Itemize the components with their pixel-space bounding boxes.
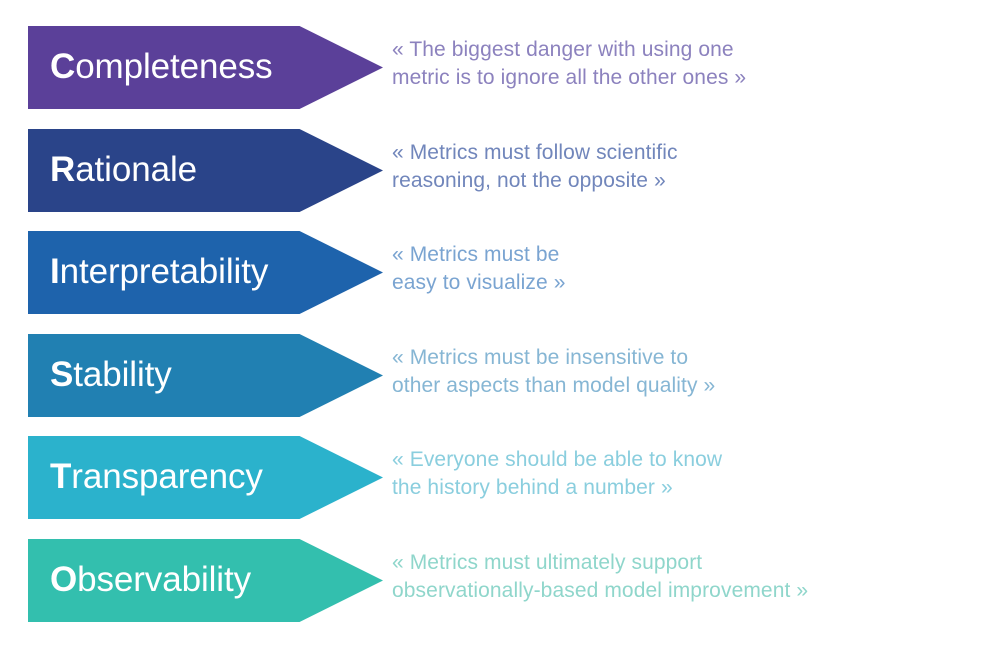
chevron-label-completeness: Completeness [28,49,273,84]
chevron-rest-completeness: ompleteness [75,47,272,86]
chevron-initial-interpretability: I [50,252,60,291]
chevron-label-transparency: Transparency [28,459,263,494]
chevron-wrap-stability: Stability [0,328,392,431]
quote-transparency: « Everyone should be able to know the hi… [392,430,996,502]
chevron-rest-observability: bservability [77,560,251,599]
chevron-initial-transparency: T [50,457,71,496]
chevron-banner-observability[interactable]: Observability [28,539,383,622]
quote-observability: « Metrics must ultimately support observ… [392,533,996,605]
quote-stability: « Metrics must be insensitive to other a… [392,328,996,400]
metric-qualities-board: Completeness « The biggest danger with u… [0,0,996,660]
row-completeness: Completeness « The biggest danger with u… [0,20,996,123]
row-interpretability: Interpretability « Metrics must be easy … [0,225,996,328]
chevron-wrap-transparency: Transparency [0,430,392,533]
chevron-initial-observability: O [50,560,77,599]
chevron-rest-stability: tability [73,355,171,394]
chevron-wrap-completeness: Completeness [0,20,392,123]
chevron-rest-transparency: ransparency [71,457,263,496]
quote-rationale: « Metrics must follow scientific reasoni… [392,123,996,195]
chevron-initial-stability: S [50,355,73,394]
chevron-banner-completeness[interactable]: Completeness [28,26,383,109]
quote-completeness: « The biggest danger with using one metr… [392,20,996,92]
chevron-wrap-observability: Observability [0,533,392,636]
chevron-initial-rationale: R [50,150,75,189]
row-stability: Stability « Metrics must be insensitive … [0,328,996,431]
chevron-rest-interpretability: nterpretability [60,252,269,291]
chevron-label-interpretability: Interpretability [28,254,268,289]
row-transparency: Transparency « Everyone should be able t… [0,430,996,533]
chevron-banner-stability[interactable]: Stability [28,334,383,417]
chevron-label-observability: Observability [28,562,251,597]
row-rationale: Rationale « Metrics must follow scientif… [0,123,996,226]
chevron-label-rationale: Rationale [28,152,197,187]
chevron-wrap-interpretability: Interpretability [0,225,392,328]
quote-interpretability: « Metrics must be easy to visualize » [392,225,996,297]
chevron-wrap-rationale: Rationale [0,123,392,226]
chevron-initial-completeness: C [50,47,75,86]
chevron-banner-interpretability[interactable]: Interpretability [28,231,383,314]
chevron-banner-rationale[interactable]: Rationale [28,129,383,212]
chevron-banner-transparency[interactable]: Transparency [28,436,383,519]
chevron-rest-rationale: ationale [75,150,197,189]
chevron-label-stability: Stability [28,357,172,392]
row-observability: Observability « Metrics must ultimately … [0,533,996,636]
